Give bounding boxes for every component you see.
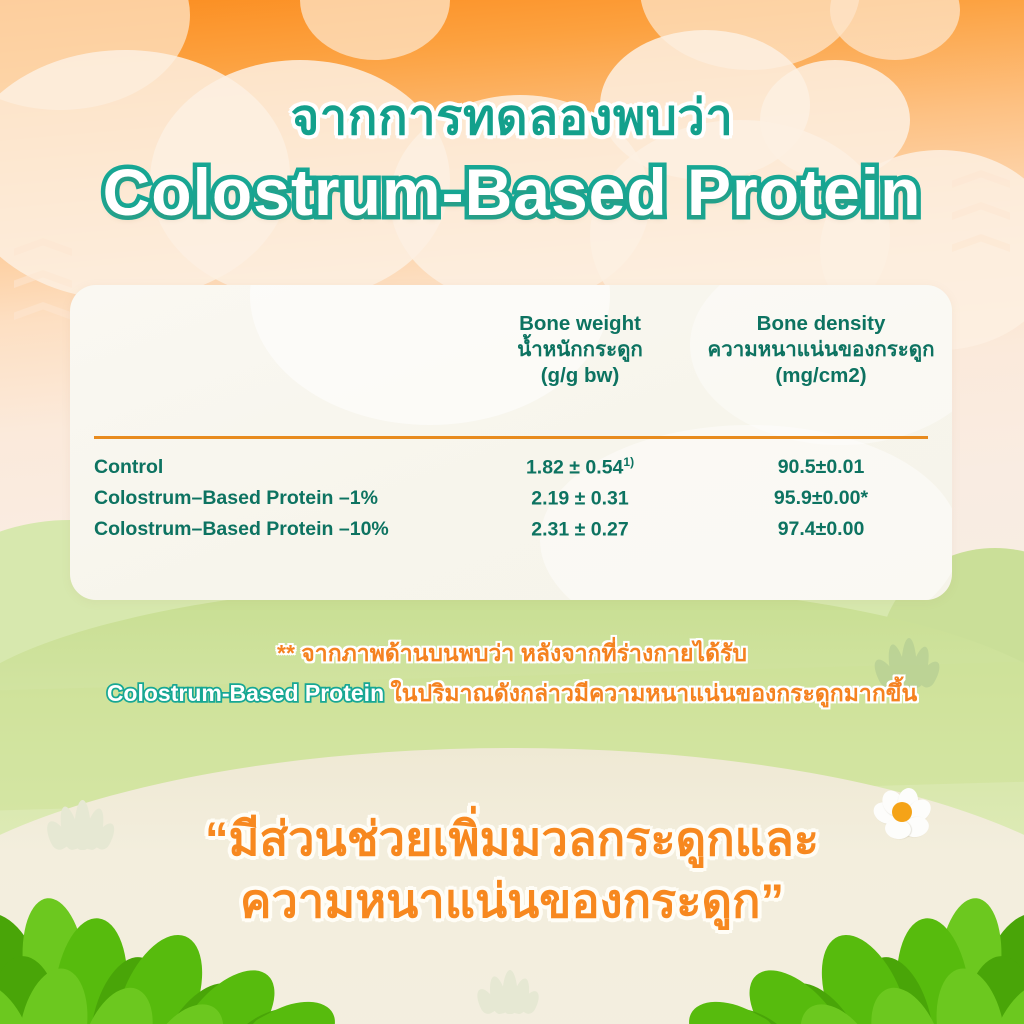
cell-value: 1.82 ± 0.54	[526, 457, 623, 479]
cell-bone-density: 95.9±0.00*	[690, 487, 952, 510]
header-th: ความหนาแน่นของกระดูก	[690, 337, 952, 363]
table-header-row: Bone weight น้ำหนักกระดูก (g/g bw) Bone …	[70, 311, 952, 389]
cell-value: 2.31 ± 0.27	[531, 519, 628, 541]
quote-line-2: ความหนาแน่นของกระดูก”	[0, 872, 1024, 930]
header-unit: (mg/cm2)	[690, 363, 952, 389]
footnote-brand: Colostrum-Based Protein	[107, 680, 384, 706]
table-row: Colostrum–Based Protein –10% 2.31 ± 0.27…	[70, 514, 952, 545]
table-row: Colostrum–Based Protein –1% 2.19 ± 0.31 …	[70, 483, 952, 514]
cell-bone-weight: 1.82 ± 0.541)	[470, 455, 690, 480]
table-body: Control 1.82 ± 0.541) 90.5±0.01 Colostru…	[70, 452, 952, 545]
header-th: น้ำหนักกระดูก	[470, 337, 690, 363]
header-en: Bone weight	[470, 311, 690, 337]
footnote-line-2: Colostrum-Based Protein ในปริมาณดังกล่าว…	[0, 676, 1024, 712]
headline-thai: จากการทดลองพบว่า	[0, 78, 1024, 156]
table-divider	[94, 436, 928, 439]
footnote-rest: ในปริมาณดังกล่าวมีความหนาแน่นของกระดูกมา…	[384, 680, 917, 706]
cell-bone-density: 97.4±0.00	[690, 518, 952, 541]
cell-treatment: Control	[70, 456, 470, 479]
grass-tuft-icon	[478, 968, 538, 1014]
cell-footnote-marker: 1)	[623, 455, 634, 469]
cell-value: 2.19 ± 0.31	[531, 488, 628, 510]
cell-treatment: Colostrum–Based Protein –10%	[70, 518, 470, 541]
results-table-card: Bone weight น้ำหนักกระดูก (g/g bw) Bone …	[70, 285, 952, 600]
cell-bone-weight: 2.19 ± 0.31	[470, 486, 690, 511]
table-header-bone-density: Bone density ความหนาแน่นของกระดูก (mg/cm…	[690, 311, 952, 389]
results-table: Bone weight น้ำหนักกระดูก (g/g bw) Bone …	[70, 285, 952, 600]
headline-english: Colostrum-Based Protein	[0, 154, 1024, 230]
table-header-bone-weight: Bone weight น้ำหนักกระดูก (g/g bw)	[470, 311, 690, 389]
cell-bone-density: 90.5±0.01	[690, 456, 952, 479]
footnote-line-1: ** จากภาพด้านบนพบว่า หลังจากที่ร่างกายได…	[0, 636, 1024, 672]
cell-bone-weight: 2.31 ± 0.27	[470, 517, 690, 542]
poster-canvas: จากการทดลองพบว่า Colostrum-Based Protein…	[0, 0, 1024, 1024]
cell-treatment: Colostrum–Based Protein –1%	[70, 487, 470, 510]
table-row: Control 1.82 ± 0.541) 90.5±0.01	[70, 452, 952, 483]
header-en: Bone density	[690, 311, 952, 337]
header-unit: (g/g bw)	[470, 363, 690, 389]
quote-line-1: “มีส่วนช่วยเพิ่มมวลกระดูกและ	[0, 810, 1024, 868]
table-header-treatment	[70, 311, 470, 389]
